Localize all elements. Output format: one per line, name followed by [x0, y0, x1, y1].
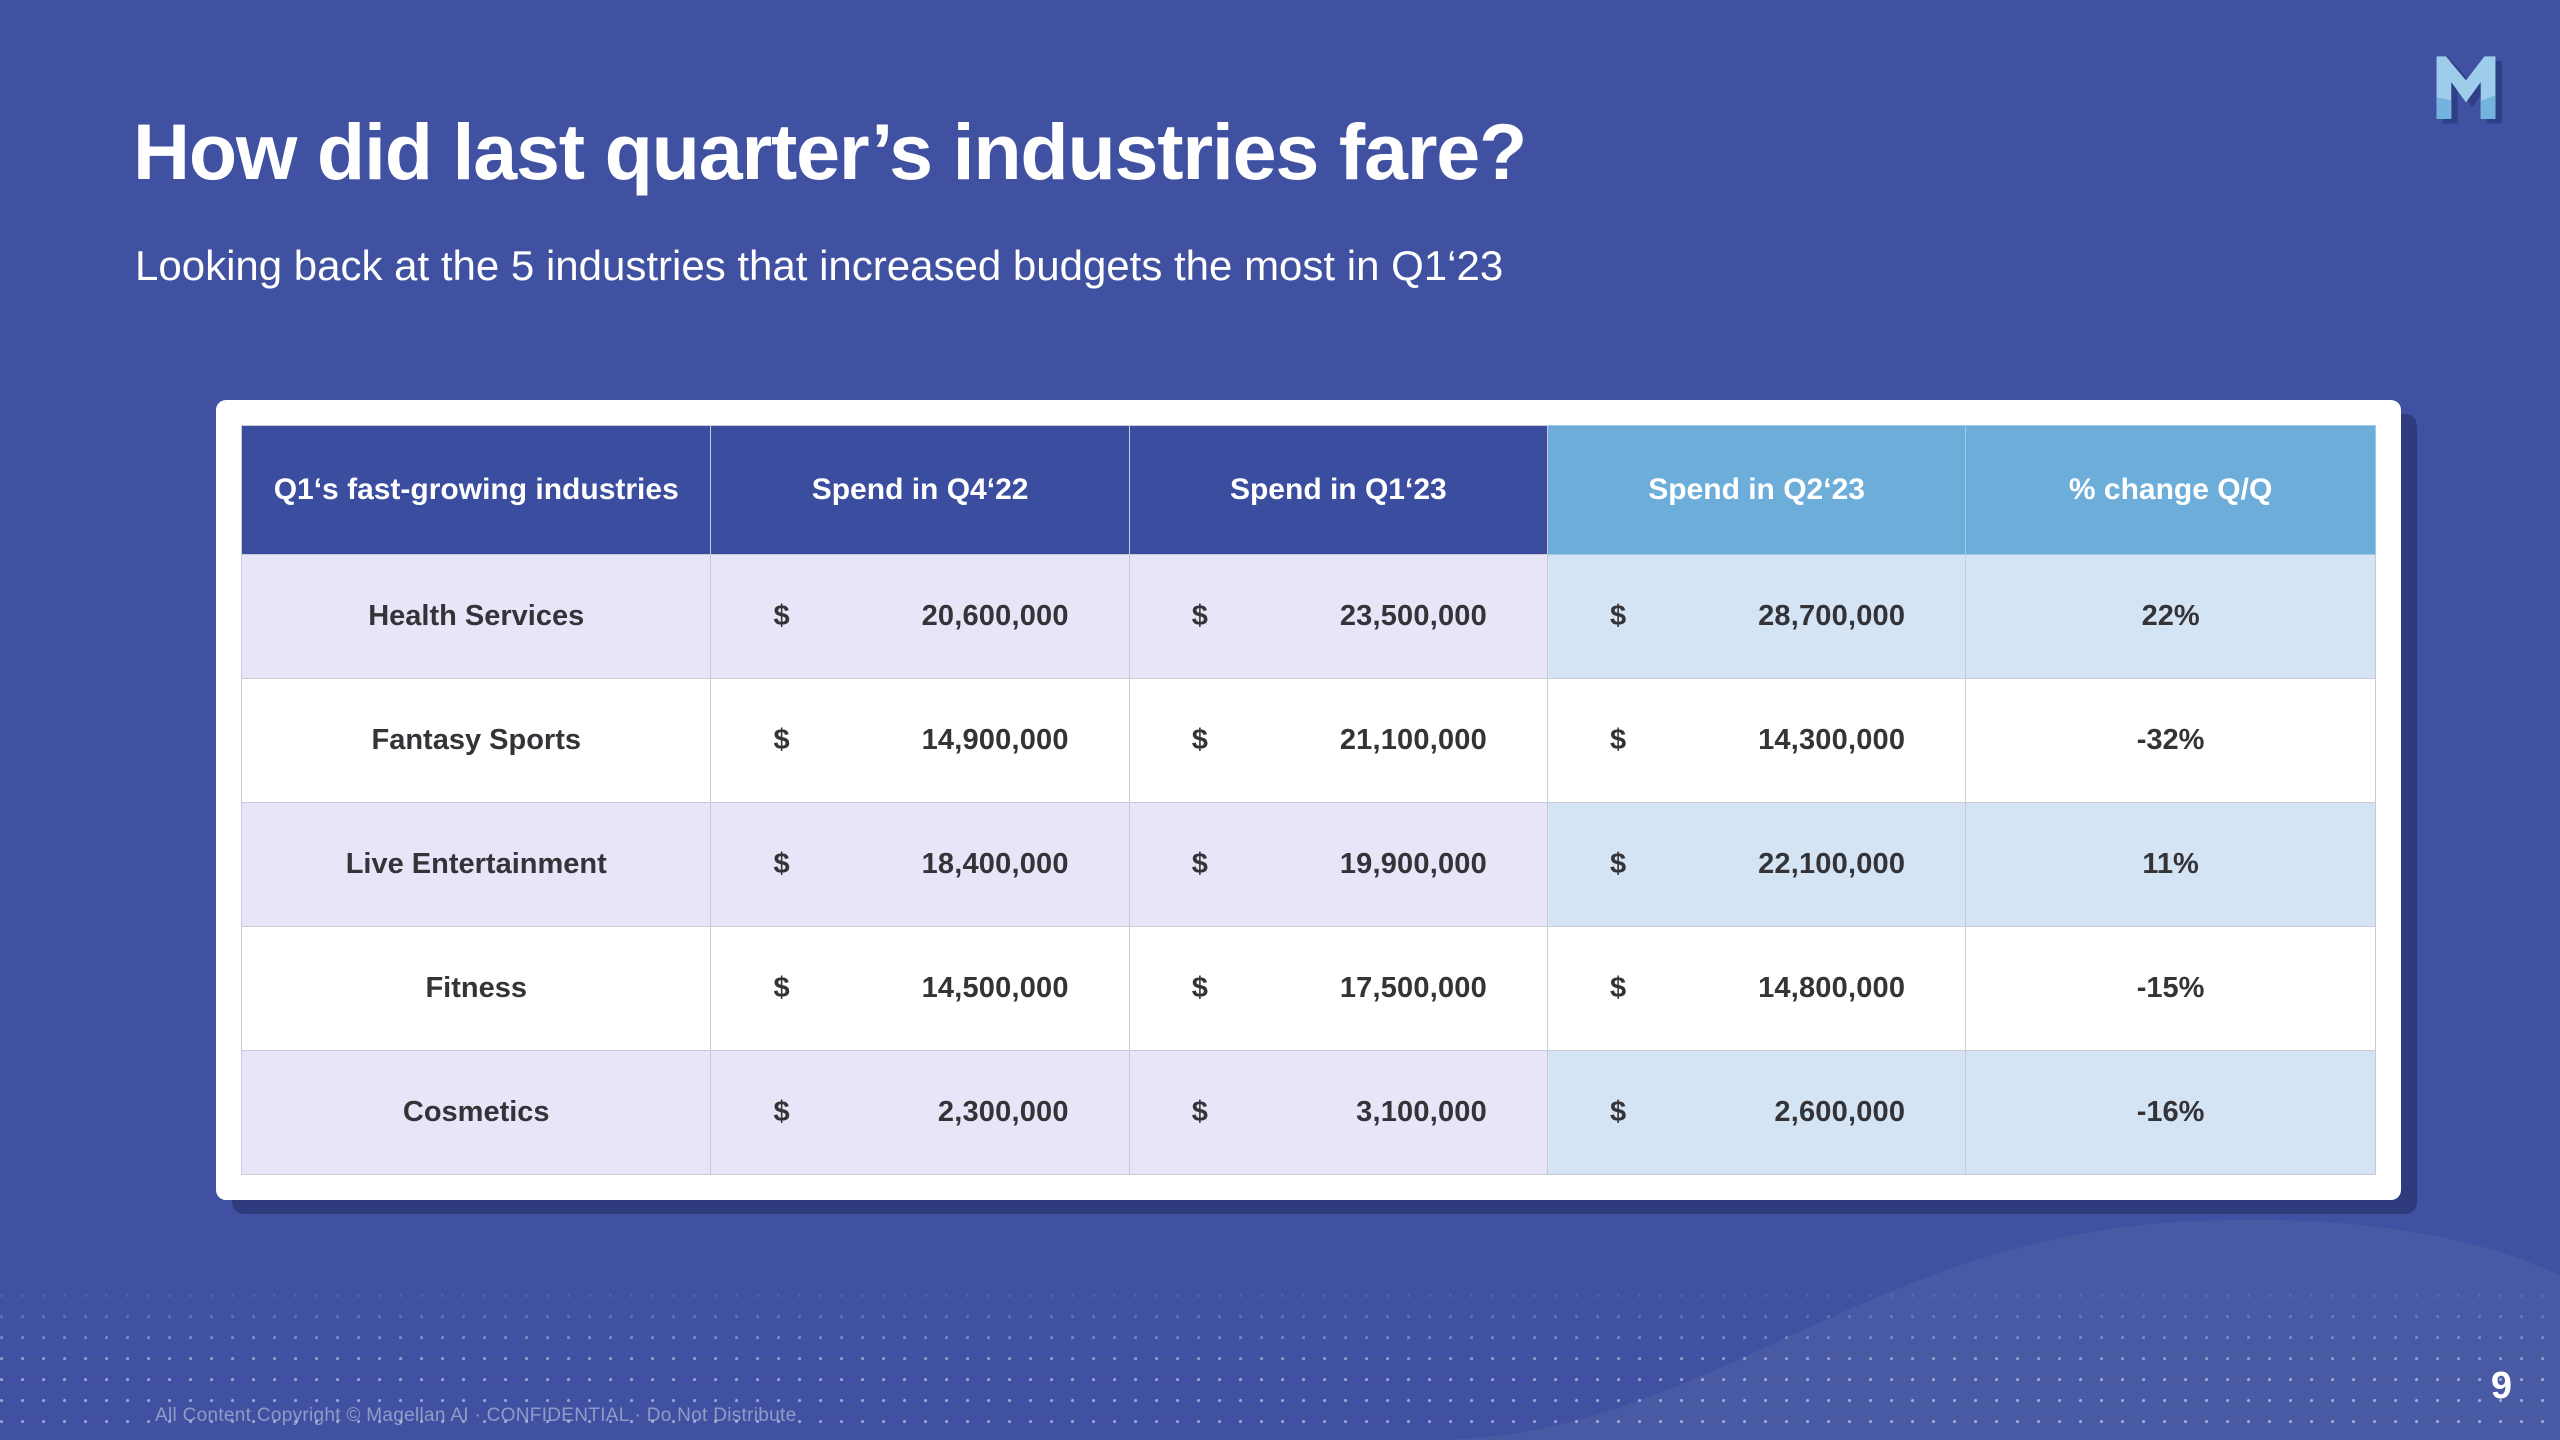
amount-value: 2,600,000 [1774, 1096, 1905, 1129]
currency-symbol: $ [1610, 600, 1626, 633]
currency-symbol: $ [1610, 972, 1626, 1005]
background-wave-shape [0, 1180, 2560, 1440]
cell-spend-q223: $ 2,600,000 [1547, 1051, 1965, 1175]
amount-value: 14,500,000 [922, 972, 1069, 1005]
currency-symbol: $ [1192, 600, 1208, 633]
amount-value: 20,600,000 [922, 600, 1069, 633]
column-header-spend-q123[interactable]: Spend in Q1‘23 [1129, 426, 1547, 555]
cell-industry: Cosmetics [242, 1051, 711, 1175]
cell-industry: Fantasy Sports [242, 679, 711, 803]
industry-spend-table: Q1‘s fast-growing industries Spend in Q4… [241, 425, 2376, 1175]
currency-symbol: $ [1610, 848, 1626, 881]
cell-spend-q123: $ 19,900,000 [1129, 803, 1547, 927]
cell-spend-q422: $ 20,600,000 [711, 555, 1129, 679]
table-card: Q1‘s fast-growing industries Spend in Q4… [216, 400, 2401, 1200]
magellan-logo-icon [2420, 38, 2512, 130]
cell-pct-change: -15% [1966, 927, 2376, 1051]
cell-spend-q123: $ 17,500,000 [1129, 927, 1547, 1051]
currency-symbol: $ [1192, 848, 1208, 881]
page-title: How did last quarter’s industries fare? [133, 112, 1526, 191]
cell-industry: Live Entertainment [242, 803, 711, 927]
slide-canvas: How did last quarter’s industries fare? … [0, 0, 2560, 1440]
currency-symbol: $ [1192, 1096, 1208, 1129]
amount-value: 28,700,000 [1758, 600, 1905, 633]
cell-spend-q422: $ 18,400,000 [711, 803, 1129, 927]
cell-pct-change: -16% [1966, 1051, 2376, 1175]
currency-symbol: $ [773, 600, 789, 633]
footer-confidentiality-note: All Content Copyright © Magellan AI · CO… [155, 1405, 796, 1427]
page-subtitle: Looking back at the 5 industries that in… [135, 245, 1503, 287]
cell-pct-change: 11% [1966, 803, 2376, 927]
cell-spend-q223: $ 22,100,000 [1547, 803, 1965, 927]
amount-value: 2,300,000 [938, 1096, 1069, 1129]
currency-symbol: $ [1192, 972, 1208, 1005]
column-header-industry[interactable]: Q1‘s fast-growing industries [242, 426, 711, 555]
cell-industry: Health Services [242, 555, 711, 679]
currency-symbol: $ [1610, 724, 1626, 757]
currency-symbol: $ [773, 848, 789, 881]
table-row: Cosmetics $ 2,300,000 $ 3,100,000 [242, 1051, 2376, 1175]
column-header-spend-q422[interactable]: Spend in Q4‘22 [711, 426, 1129, 555]
column-header-pct-change[interactable]: % change Q/Q [1966, 426, 2376, 555]
cell-spend-q123: $ 21,100,000 [1129, 679, 1547, 803]
cell-spend-q223: $ 28,700,000 [1547, 555, 1965, 679]
cell-spend-q422: $ 14,500,000 [711, 927, 1129, 1051]
cell-pct-change: 22% [1966, 555, 2376, 679]
amount-value: 17,500,000 [1340, 972, 1487, 1005]
amount-value: 23,500,000 [1340, 600, 1487, 633]
column-header-spend-q223[interactable]: Spend in Q2‘23 [1547, 426, 1965, 555]
table-header-row: Q1‘s fast-growing industries Spend in Q4… [242, 426, 2376, 555]
currency-symbol: $ [773, 1096, 789, 1129]
amount-value: 19,900,000 [1340, 848, 1487, 881]
table-body: Health Services $ 20,600,000 $ 23,500,00… [242, 555, 2376, 1175]
table-row: Live Entertainment $ 18,400,000 $ 19,900… [242, 803, 2376, 927]
amount-value: 14,300,000 [1758, 724, 1905, 757]
amount-value: 18,400,000 [922, 848, 1069, 881]
amount-value: 14,800,000 [1758, 972, 1905, 1005]
cell-spend-q223: $ 14,800,000 [1547, 927, 1965, 1051]
currency-symbol: $ [1192, 724, 1208, 757]
amount-value: 14,900,000 [922, 724, 1069, 757]
table-header: Q1‘s fast-growing industries Spend in Q4… [242, 426, 2376, 555]
cell-spend-q123: $ 3,100,000 [1129, 1051, 1547, 1175]
cell-spend-q223: $ 14,300,000 [1547, 679, 1965, 803]
amount-value: 22,100,000 [1758, 848, 1905, 881]
cell-spend-q123: $ 23,500,000 [1129, 555, 1547, 679]
currency-symbol: $ [773, 972, 789, 1005]
table-row: Fantasy Sports $ 14,900,000 $ 21,100,000 [242, 679, 2376, 803]
currency-symbol: $ [773, 724, 789, 757]
currency-symbol: $ [1610, 1096, 1626, 1129]
amount-value: 3,100,000 [1356, 1096, 1487, 1129]
table-row: Health Services $ 20,600,000 $ 23,500,00… [242, 555, 2376, 679]
page-number: 9 [2491, 1365, 2512, 1408]
table-row: Fitness $ 14,500,000 $ 17,500,000 [242, 927, 2376, 1051]
cell-pct-change: -32% [1966, 679, 2376, 803]
amount-value: 21,100,000 [1340, 724, 1487, 757]
cell-spend-q422: $ 14,900,000 [711, 679, 1129, 803]
cell-spend-q422: $ 2,300,000 [711, 1051, 1129, 1175]
cell-industry: Fitness [242, 927, 711, 1051]
